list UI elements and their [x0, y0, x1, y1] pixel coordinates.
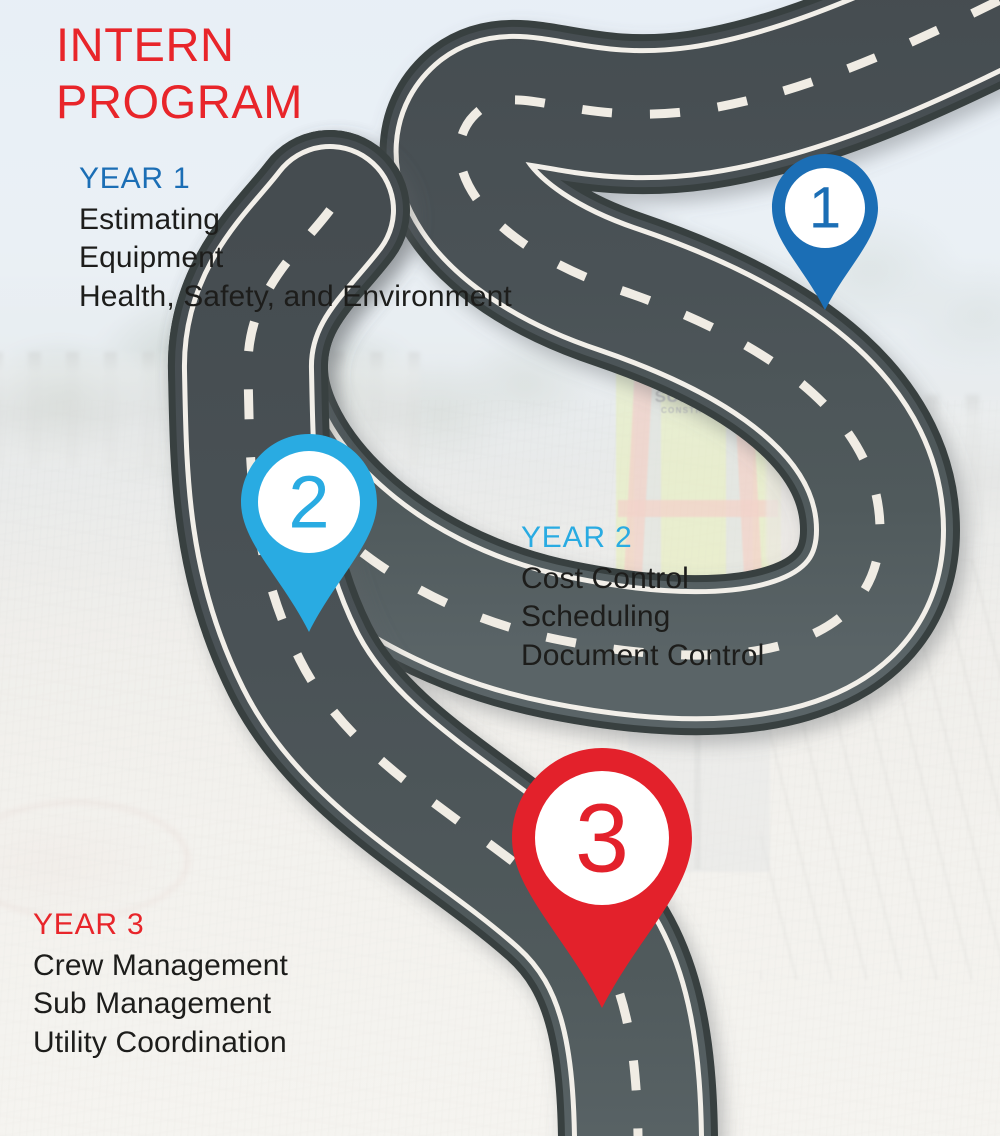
- year-3-label: YEAR 3: [33, 908, 288, 941]
- year-3-block: YEAR 3 Crew Management Sub Management Ut…: [33, 908, 288, 1062]
- pin-3-number: 3: [575, 784, 629, 893]
- year-2-item-2: Scheduling: [521, 598, 764, 636]
- year-3-item-3: Utility Coordination: [33, 1024, 288, 1062]
- page-title: INTERN PROGRAM: [56, 16, 303, 131]
- map-pin-3[interactable]: 3: [502, 742, 702, 1014]
- year-2-items: Cost Control Scheduling Document Control: [521, 560, 764, 675]
- year-3-items: Crew Management Sub Management Utility C…: [33, 947, 288, 1062]
- map-pin-2[interactable]: 2: [232, 428, 386, 638]
- year-1-item-3: Health, Safety, and Environment: [79, 278, 512, 316]
- year-2-label: YEAR 2: [521, 521, 764, 554]
- title-line-1: INTERN: [56, 16, 303, 73]
- year-2-item-1: Cost Control: [521, 560, 764, 598]
- year-1-item-1: Estimating: [79, 201, 512, 239]
- year-1-items: Estimating Equipment Health, Safety, and…: [79, 201, 512, 316]
- year-2-block: YEAR 2 Cost Control Scheduling Document …: [521, 521, 764, 675]
- year-1-label: YEAR 1: [79, 162, 512, 195]
- year-1-block: YEAR 1 Estimating Equipment Health, Safe…: [79, 162, 512, 316]
- pin-2-number: 2: [288, 461, 329, 544]
- map-pin-1[interactable]: 1: [764, 148, 886, 316]
- title-line-2: PROGRAM: [56, 73, 303, 130]
- year-1-item-2: Equipment: [79, 239, 512, 277]
- infographic-canvas: SUPERIOR CONSTRUCTION: [0, 0, 1000, 1136]
- year-2-item-3: Document Control: [521, 637, 764, 675]
- year-3-item-1: Crew Management: [33, 947, 288, 985]
- pin-1-number: 1: [809, 176, 841, 241]
- year-3-item-2: Sub Management: [33, 985, 288, 1023]
